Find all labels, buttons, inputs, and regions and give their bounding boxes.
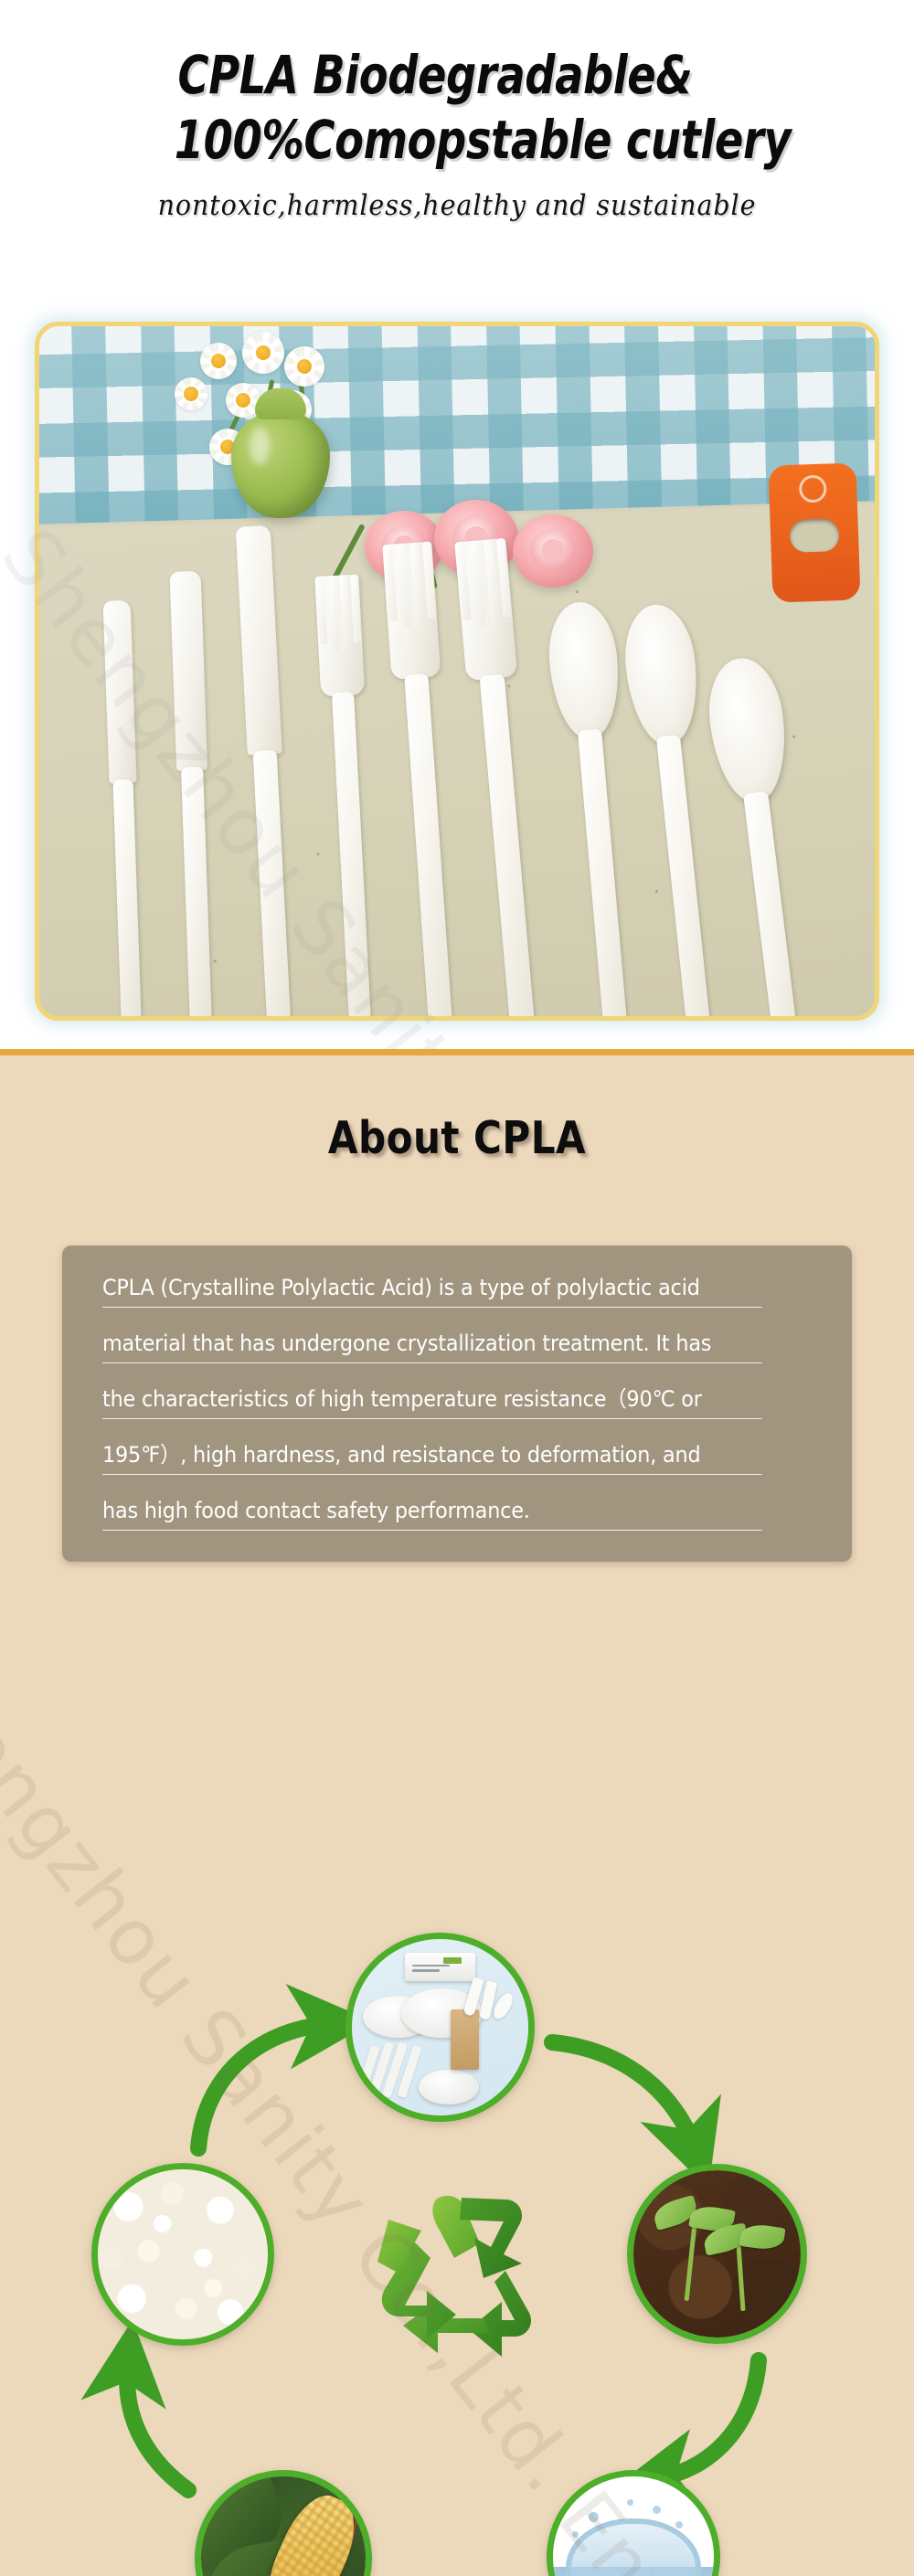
description-line: CPLA (Crystalline Polylactic Acid) is a … bbox=[102, 1277, 762, 1308]
soil-sprouts-image bbox=[633, 2170, 801, 2337]
pla-pellets-image bbox=[98, 2169, 268, 2339]
arrow-corn-to-pellets bbox=[127, 2362, 188, 2490]
hero-photo bbox=[39, 326, 875, 1016]
kraft-sleeve bbox=[451, 2009, 479, 2070]
lifecycle-node-pellets bbox=[91, 2163, 274, 2346]
description-line: 195℉）, high hardness, and resistance to … bbox=[102, 1444, 762, 1475]
description-line: has high food contact safety performance… bbox=[102, 1500, 762, 1531]
about-description-card: CPLA (Crystalline Polylactic Acid) is a … bbox=[62, 1246, 852, 1562]
cutlery-knife-large bbox=[228, 525, 304, 1016]
arrow-pellets-to-tableware bbox=[198, 2024, 331, 2148]
arrow-soil-to-water bbox=[656, 2360, 759, 2479]
hero-subheadline: nontoxic,harmless,healthy and sustainabl… bbox=[37, 189, 877, 222]
cutlery-fork-small bbox=[311, 574, 387, 1016]
arrow-tableware-to-soil bbox=[552, 2042, 695, 2148]
recycle-symbol-icon bbox=[364, 2187, 552, 2360]
headline-line-2: 100%Comopstable cutlery bbox=[91, 112, 823, 168]
about-cpla-section: Shengzhou Sanity Co.,Ltd. Environment Ab… bbox=[0, 1049, 914, 2576]
hero-section: CPLA Biodegradable& 100%Comopstable cutl… bbox=[0, 0, 914, 1049]
headline-block: CPLA Biodegradable& 100%Comopstable cutl… bbox=[0, 0, 914, 222]
hero-photo-frame bbox=[35, 322, 879, 1021]
tableware-image bbox=[352, 1939, 528, 2115]
package-box bbox=[405, 1953, 475, 1981]
lifecycle-node-water bbox=[547, 2470, 720, 2576]
bowl bbox=[419, 2070, 479, 2105]
description-line: material that has undergone crystallizat… bbox=[102, 1332, 762, 1363]
cutlery-knife-small bbox=[96, 599, 153, 1016]
lifecycle-node-corn bbox=[195, 2470, 372, 2576]
corn-image bbox=[201, 2476, 366, 2576]
water-splash-image bbox=[553, 2476, 714, 2576]
headline-line-1: CPLA Biodegradable& bbox=[91, 48, 823, 103]
description-line: the characteristics of high temperature … bbox=[102, 1388, 762, 1419]
lifecycle-diagram bbox=[0, 1933, 914, 2572]
about-cpla-title: About CPLA bbox=[64, 1055, 850, 1164]
lifecycle-node-tableware bbox=[345, 1933, 535, 2122]
cutlery-group bbox=[39, 326, 875, 1016]
cutlery-fork-large bbox=[451, 537, 555, 1016]
lifecycle-node-soil bbox=[627, 2164, 807, 2344]
cutlery-knife-medium bbox=[163, 570, 224, 1016]
